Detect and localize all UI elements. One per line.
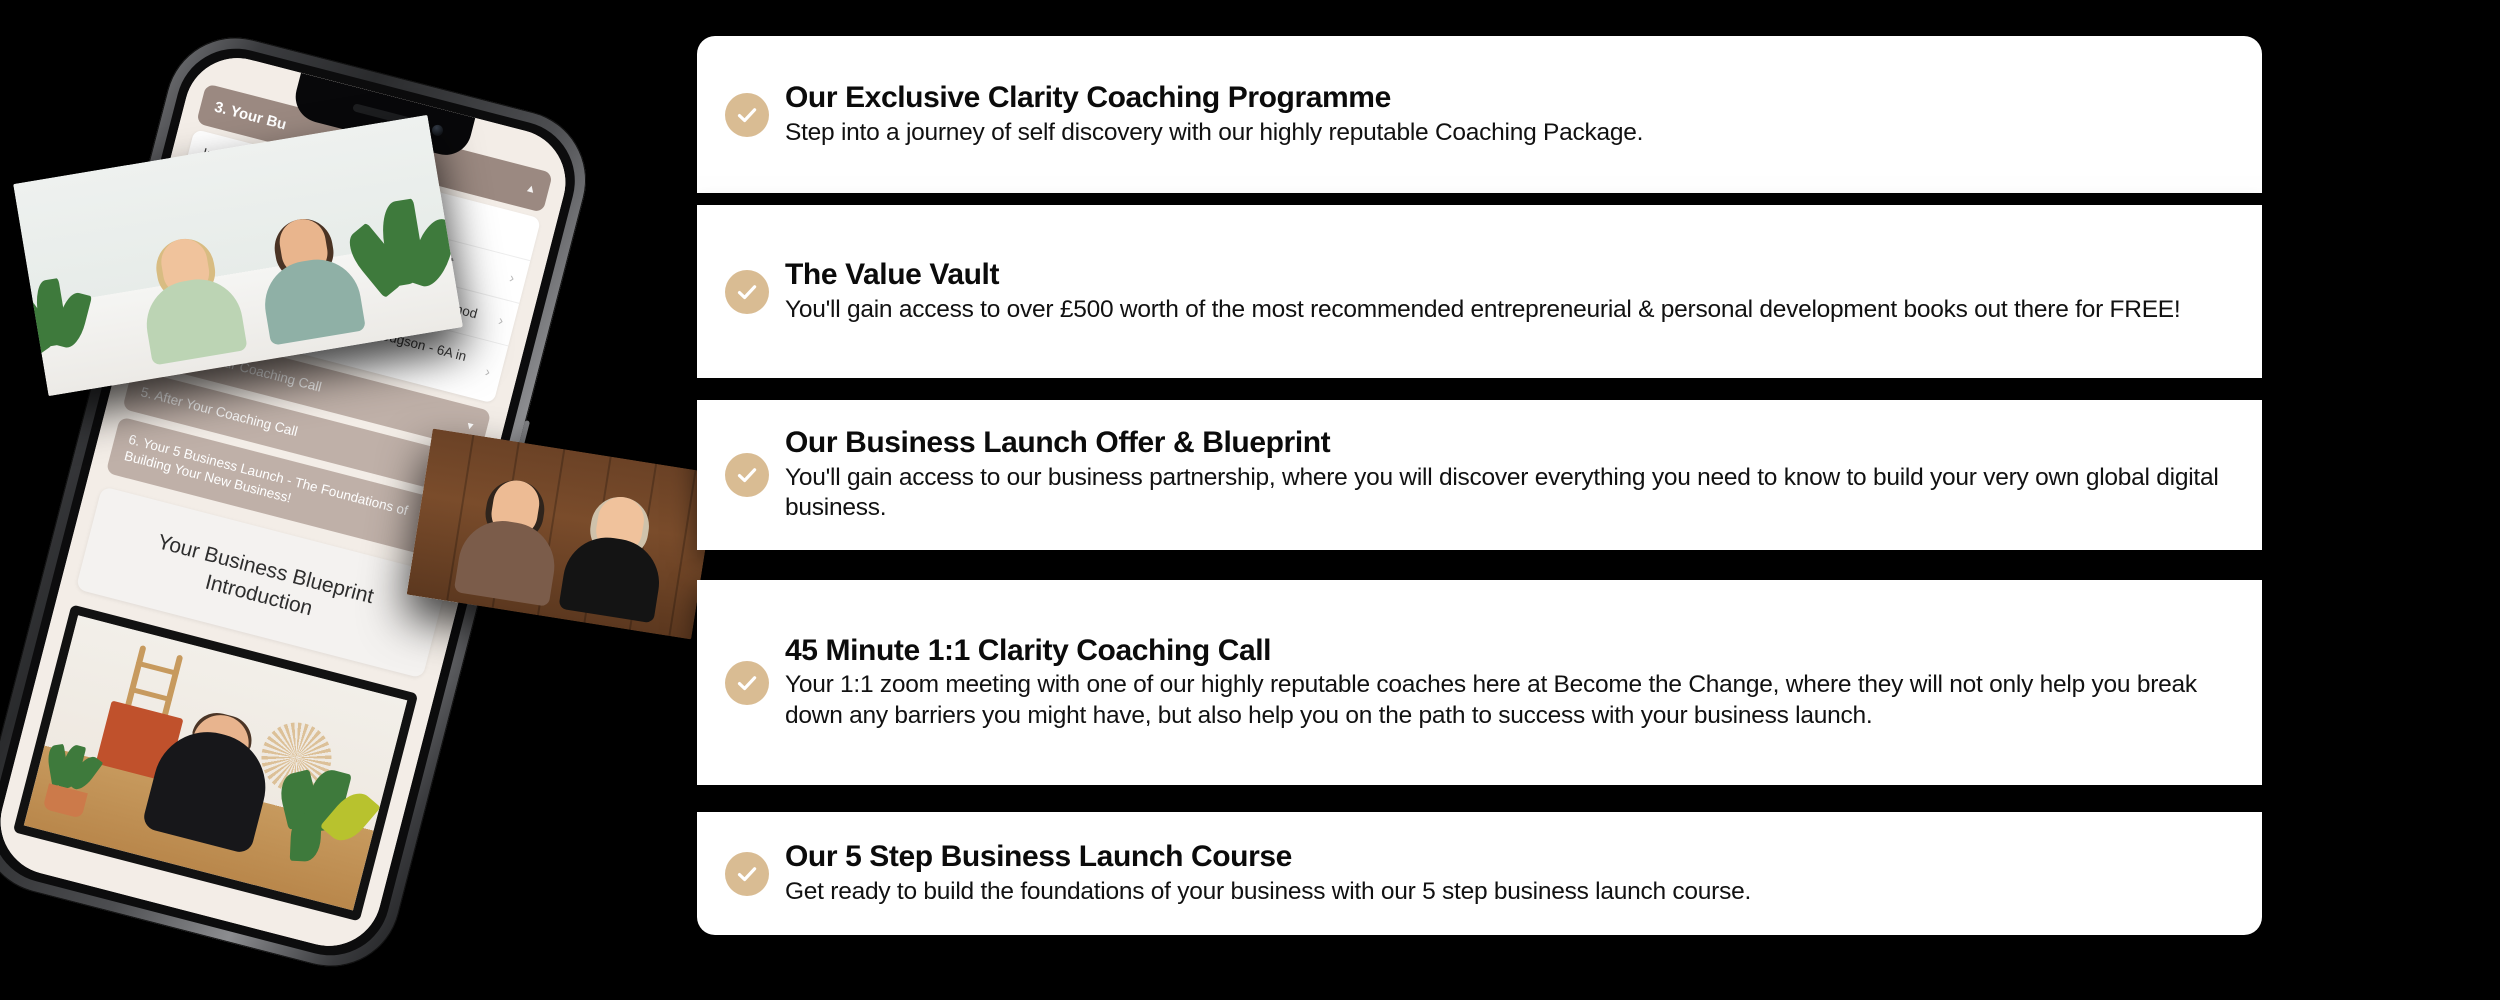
check-circle-icon xyxy=(725,270,769,314)
feature-description: Step into a journey of self discovery wi… xyxy=(785,118,2222,148)
feature-title: Our Business Launch Offer & Blueprint xyxy=(785,426,2222,460)
chevron-right-icon: › xyxy=(507,269,516,287)
student-blonde xyxy=(550,471,682,625)
feature-text: Our Exclusive Clarity Coaching Programme… xyxy=(785,81,2222,148)
chevron-right-icon: › xyxy=(483,363,492,381)
feature-description: You'll gain access to our business partn… xyxy=(785,463,2222,524)
check-circle-icon xyxy=(725,661,769,705)
feature-card[interactable]: The Value Vault You'll gain access to ov… xyxy=(697,205,2262,378)
feature-description: You'll gain access to over £500 worth of… xyxy=(785,295,2222,325)
feature-text: 45 Minute 1:1 Clarity Coaching Call Your… xyxy=(785,634,2222,731)
chevron-down-icon: ▼ xyxy=(463,420,476,435)
feature-card-list: Our Exclusive Clarity Coaching Programme… xyxy=(697,0,2267,1000)
check-circle-icon xyxy=(725,852,769,896)
course-section-header-label: 3. Your Bu xyxy=(213,99,289,134)
plant-left xyxy=(13,270,100,390)
feature-card[interactable]: 45 Minute 1:1 Clarity Coaching Call Your… xyxy=(697,580,2262,785)
feature-card[interactable]: Our Business Launch Offer & Blueprint Yo… xyxy=(697,400,2262,550)
front-camera-icon xyxy=(431,124,444,137)
feature-description: Your 1:1 zoom meeting with one of our hi… xyxy=(785,670,2222,731)
lesson-title: Your Business Blueprint Introduction xyxy=(155,530,376,620)
chevron-up-icon: ▲ xyxy=(524,181,538,195)
presenter-female xyxy=(124,220,254,366)
feature-card[interactable]: Our Exclusive Clarity Coaching Programme… xyxy=(697,36,2262,193)
feature-description: Get ready to build the foundations of yo… xyxy=(785,877,2222,907)
phone-mockup: 3. Your Bu ▲ Introducing our Partnership… xyxy=(0,0,740,1000)
feature-text: The Value Vault You'll gain access to ov… xyxy=(785,258,2222,325)
feature-title: Our Exclusive Clarity Coaching Programme xyxy=(785,81,2222,115)
chevron-right-icon: › xyxy=(496,312,505,330)
plant-left xyxy=(36,739,106,820)
promo-banner: 3. Your Bu ▲ Introducing our Partnership… xyxy=(0,0,2500,1000)
video-scene-presenter xyxy=(24,616,408,911)
check-circle-icon xyxy=(725,93,769,137)
feature-text: Our Business Launch Offer & Blueprint Yo… xyxy=(785,426,2222,523)
feature-title: 45 Minute 1:1 Clarity Coaching Call xyxy=(785,634,2222,668)
feature-text: Our 5 Step Business Launch Course Get re… xyxy=(785,840,2222,907)
feature-card[interactable]: Our 5 Step Business Launch Course Get re… xyxy=(697,812,2262,935)
check-circle-icon xyxy=(725,453,769,497)
feature-title: Our 5 Step Business Launch Course xyxy=(785,840,2222,874)
feature-title: The Value Vault xyxy=(785,258,2222,292)
